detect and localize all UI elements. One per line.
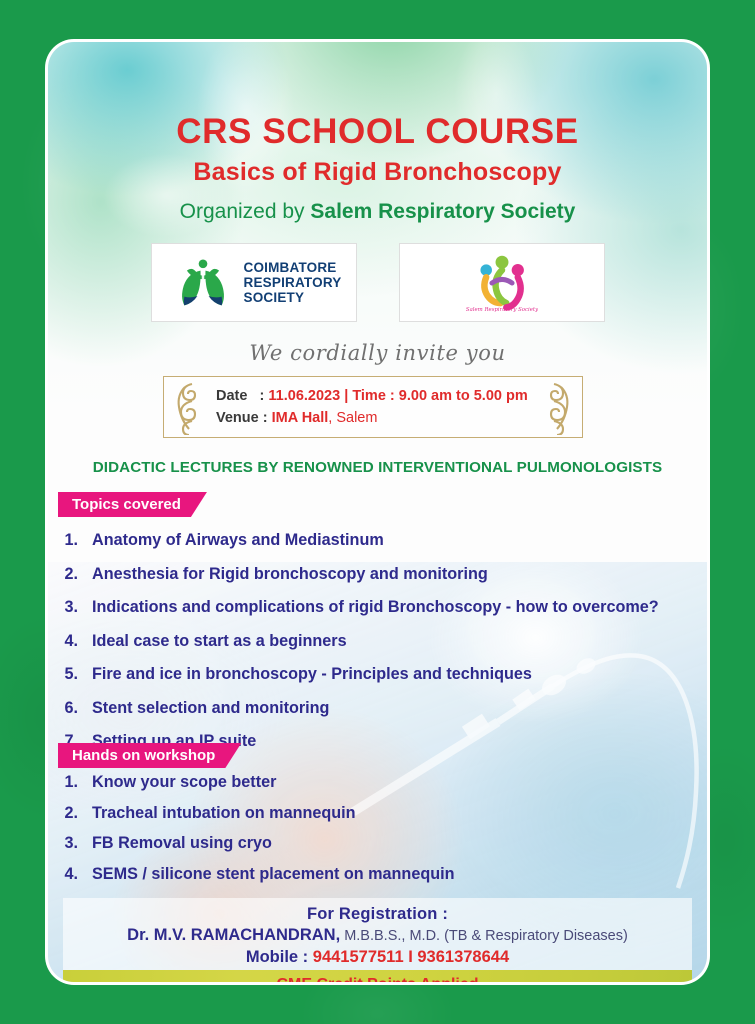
topics-list: 1.Anatomy of Airways and Mediastinum2.An…	[48, 531, 707, 766]
venue-separator: :	[263, 410, 268, 426]
date-separator: :	[260, 388, 265, 404]
time-value: 9.00 am to 5.00 pm	[399, 388, 528, 404]
list-item: 4.Ideal case to start as a beginners	[48, 632, 707, 666]
lungs-person-icon	[172, 252, 234, 314]
organizer-line: Organized by Salem Respiratory Society	[48, 200, 707, 224]
crs-logo-line-2: RESPIRATORY	[244, 275, 342, 290]
mobile-numbers: 9441577511 I 9361378644	[313, 948, 509, 966]
invite-text: We cordially invite you	[48, 341, 707, 365]
hands_on-text: Tracheal intubation on mannequin	[92, 804, 707, 823]
hands_on-number: 3.	[48, 834, 92, 853]
hands-on-workshop-badge: Hands on workshop	[58, 743, 241, 768]
logo-row: COIMBATORE RESPIRATORY SOCIETY Salem Res…	[48, 243, 707, 322]
topics-number: 2.	[48, 565, 92, 584]
list-item: 5.Fire and ice in bronchoscopy - Princip…	[48, 665, 707, 699]
topics-number: 1.	[48, 531, 92, 550]
topics-text: Fire and ice in bronchoscopy - Principle…	[92, 665, 707, 684]
date-venue-box: Date : 11.06.2023 | Time : 9.00 am to 5.…	[163, 376, 583, 438]
venue-hall: IMA Hall	[272, 410, 329, 426]
date-value: 11.06.2023	[268, 388, 340, 404]
salem-respiratory-society-logo: Salem Respiratory Society	[399, 243, 605, 322]
crs-logo-line-3: SOCIETY	[244, 290, 342, 305]
ornament-right-icon	[548, 381, 574, 435]
coimbatore-respiratory-society-logo: COIMBATORE RESPIRATORY SOCIETY	[151, 243, 357, 322]
hands_on-number: 1.	[48, 773, 92, 792]
hands_on-text: SEMS / silicone stent placement on manne…	[92, 865, 707, 884]
topics-text: Ideal case to start as a beginners	[92, 632, 707, 651]
date-divider: |	[344, 388, 348, 404]
course-subtitle: Basics of Rigid Bronchoscopy	[48, 158, 707, 187]
organizer-name: Salem Respiratory Society	[310, 200, 575, 223]
list-item: 3.FB Removal using cryo	[48, 834, 707, 865]
course-title: CRS SCHOOL COURSE	[48, 112, 707, 152]
topics-number: 3.	[48, 598, 92, 617]
topics-text: Stent selection and monitoring	[92, 699, 707, 718]
venue-label: Venue	[216, 410, 259, 426]
registration-mobile: Mobile : 9441577511 I 9361378644	[63, 948, 692, 967]
topics-text: Anesthesia for Rigid bronchoscopy and mo…	[92, 565, 707, 584]
didactic-lectures-line: DIDACTIC LECTURES BY RENOWNED INTERVENTI…	[48, 459, 707, 476]
hands-on-list: 1.Know your scope better2.Tracheal intub…	[48, 773, 707, 895]
hands_on-text: Know your scope better	[92, 773, 707, 792]
mobile-label: Mobile :	[246, 948, 313, 966]
registration-doctor: Dr. M.V. RAMACHANDRAN, M.B.B.S., M.D. (T…	[63, 926, 692, 945]
topics-number: 4.	[48, 632, 92, 651]
list-item: 1.Know your scope better	[48, 773, 707, 804]
hands_on-number: 2.	[48, 804, 92, 823]
ornament-left-icon	[172, 381, 198, 435]
salem-logo-caption: Salem Respiratory Society	[466, 306, 538, 312]
venue-line: Venue : IMA Hall, Salem	[216, 407, 582, 429]
list-item: 6.Stent selection and monitoring	[48, 699, 707, 733]
list-item: 2.Tracheal intubation on mannequin	[48, 804, 707, 835]
list-item: 1.Anatomy of Airways and Mediastinum	[48, 531, 707, 565]
doctor-degrees: M.B.B.S., M.D. (TB & Respiratory Disease…	[340, 928, 628, 944]
topics-number: 6.	[48, 699, 92, 718]
date-venue-lines: Date : 11.06.2023 | Time : 9.00 am to 5.…	[164, 377, 582, 429]
topics-text: Indications and complications of rigid B…	[92, 598, 707, 617]
poster-card: CRS SCHOOL COURSE Basics of Rigid Bronch…	[48, 42, 707, 982]
cme-credit-bar: CME Credit Points Applied	[63, 970, 692, 982]
salem-society-emblem-icon: Salem Respiratory Society	[466, 250, 538, 316]
registration-panel: For Registration : Dr. M.V. RAMACHANDRAN…	[63, 898, 692, 976]
list-item: 3.Indications and complications of rigid…	[48, 598, 707, 632]
date-line: Date : 11.06.2023 | Time : 9.00 am to 5.…	[216, 385, 582, 407]
hands_on-text: FB Removal using cryo	[92, 834, 707, 853]
time-label: Time :	[352, 388, 394, 404]
poster-frame: CRS SCHOOL COURSE Basics of Rigid Bronch…	[0, 0, 755, 1024]
topics-number: 5.	[48, 665, 92, 684]
date-label: Date	[216, 388, 247, 404]
list-item: 2.Anesthesia for Rigid bronchoscopy and …	[48, 565, 707, 599]
topics-covered-badge: Topics covered	[58, 492, 207, 517]
organized-prefix: Organized by	[180, 200, 311, 223]
venue-city: , Salem	[328, 410, 377, 426]
crs-logo-line-1: COIMBATORE	[244, 260, 342, 275]
registration-heading: For Registration :	[63, 905, 692, 924]
topics-text: Anatomy of Airways and Mediastinum	[92, 531, 707, 550]
hands_on-number: 4.	[48, 865, 92, 884]
crs-logo-text: COIMBATORE RESPIRATORY SOCIETY	[244, 260, 342, 305]
doctor-name: Dr. M.V. RAMACHANDRAN,	[127, 926, 340, 944]
list-item: 4.SEMS / silicone stent placement on man…	[48, 865, 707, 896]
